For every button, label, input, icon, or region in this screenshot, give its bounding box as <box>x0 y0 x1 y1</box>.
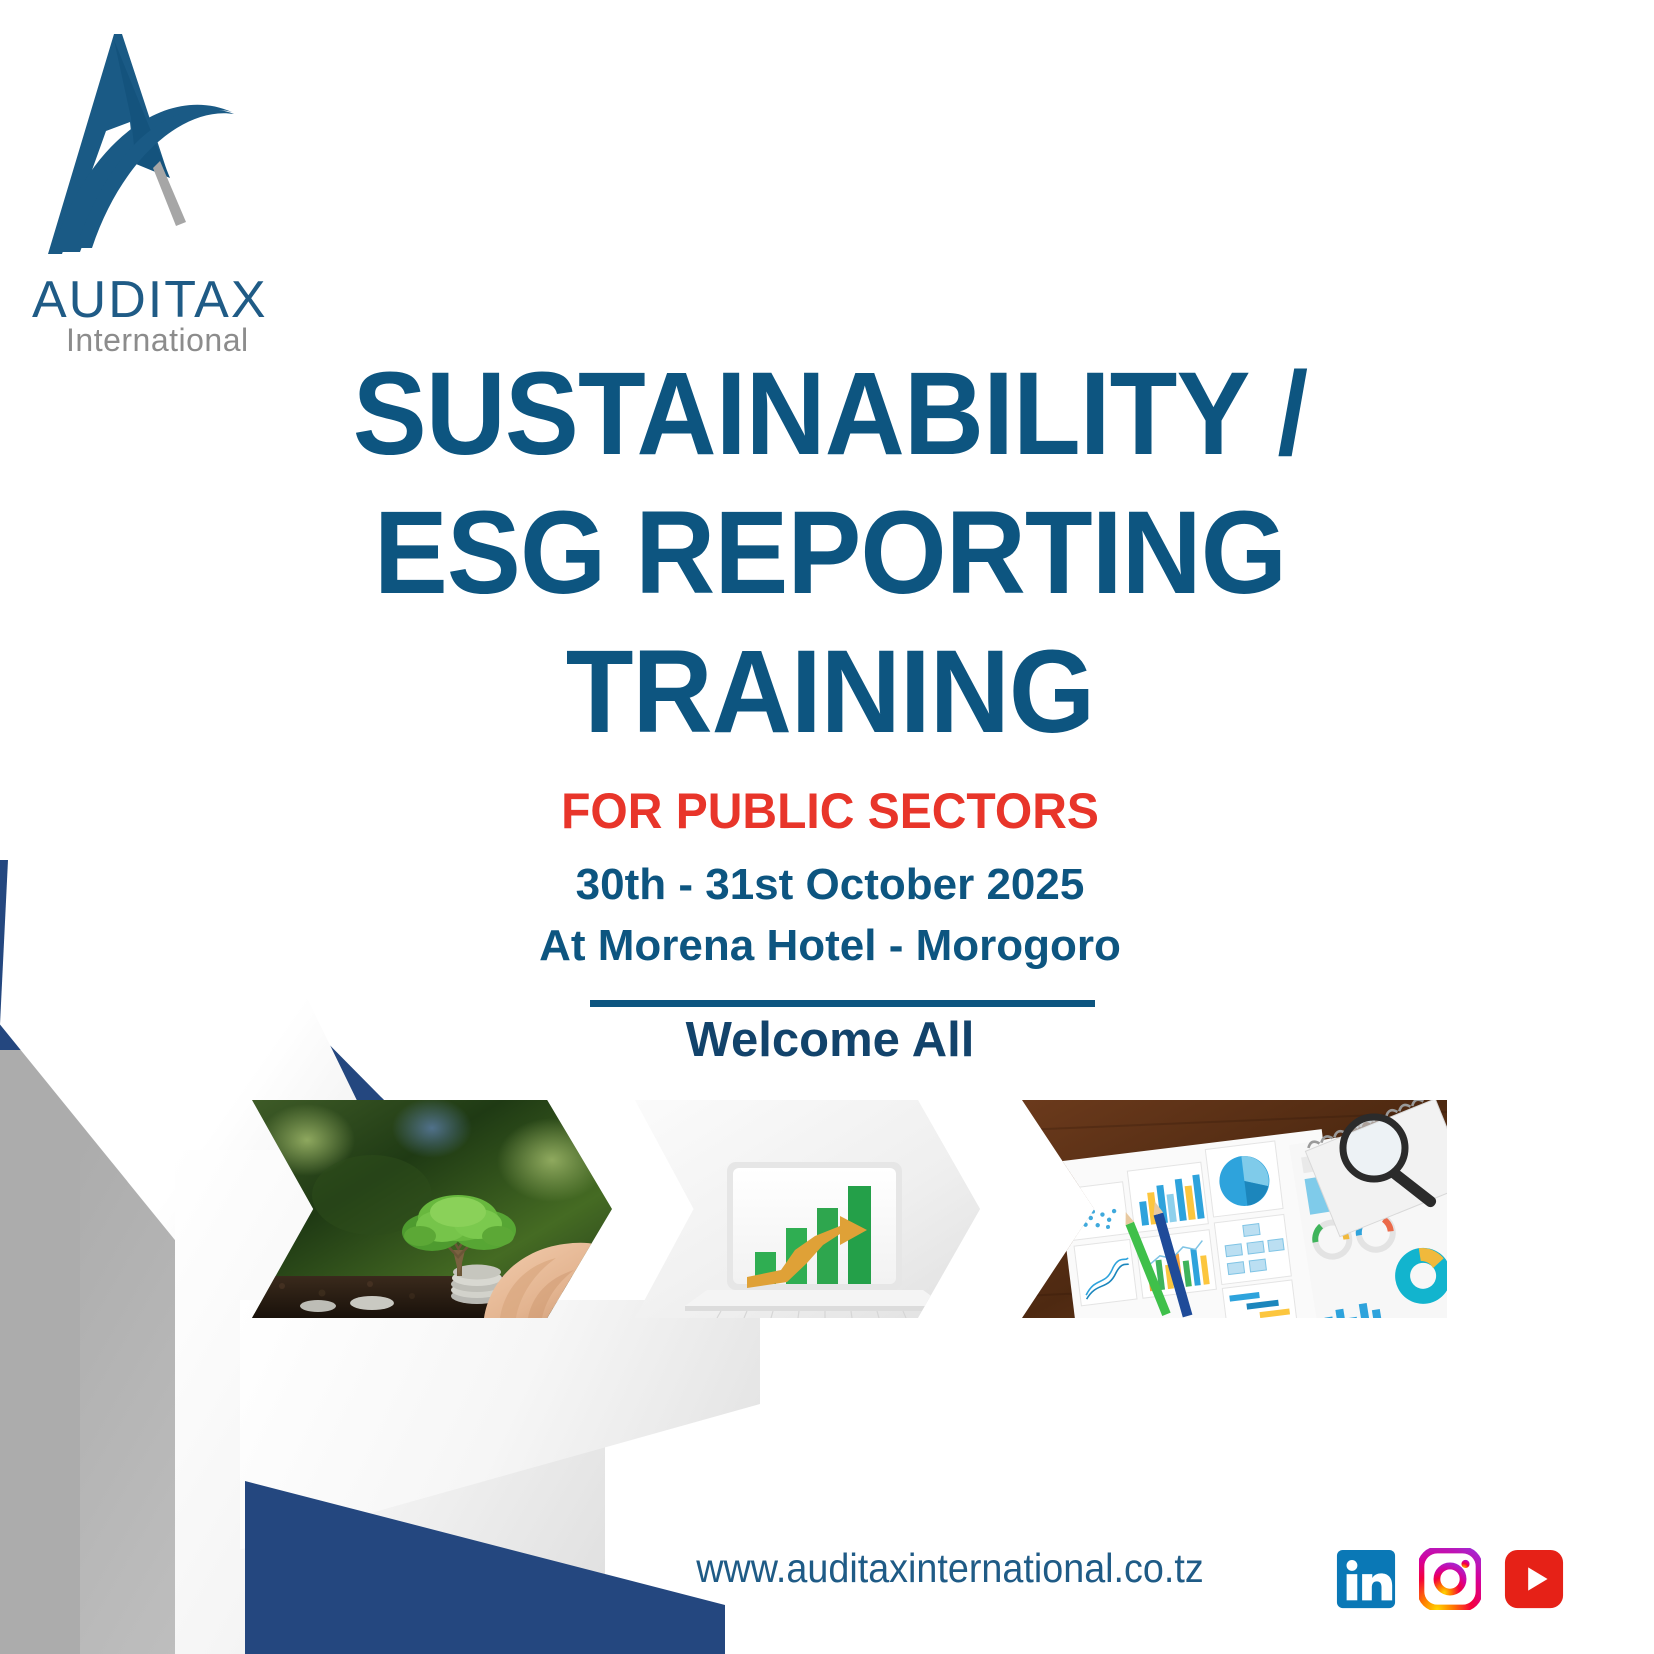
title-line-1: SUSTAINABILITY / <box>181 345 1478 484</box>
title-line-3: TRAINING <box>181 623 1478 762</box>
auditax-logo: AUDITAX International <box>18 26 298 341</box>
social-links <box>1335 1548 1565 1610</box>
instagram-icon[interactable] <box>1419 1548 1481 1610</box>
page-title: SUSTAINABILITY / ESG REPORTING TRAINING <box>181 345 1478 763</box>
tree-in-hand-illustration <box>252 1100 612 1318</box>
event-dates: 30th - 31st October 2025 <box>140 855 1520 916</box>
divider-rule <box>590 1000 1095 1007</box>
event-venue: At Morena Hotel - Morogoro <box>140 916 1520 977</box>
sustainability-tree-photo <box>252 1100 612 1318</box>
youtube-icon[interactable] <box>1503 1548 1565 1610</box>
business-analytics-report-photo <box>1022 1100 1447 1318</box>
white-bottom-wedge <box>240 1300 760 1560</box>
analytics-dashboard-illustration <box>1022 1100 1447 1318</box>
website-url[interactable]: www.auditaxinternational.co.tz <box>628 1545 1272 1592</box>
image-strip <box>252 1100 1452 1318</box>
poster-canvas: AUDITAX International SUSTAINABILITY / E… <box>0 0 1654 1654</box>
welcome-message: Welcome All <box>140 1012 1520 1068</box>
logo-wordmark: AUDITAX <box>32 274 268 326</box>
title-line-2: ESG REPORTING <box>181 484 1478 623</box>
gray-chevron-shape <box>80 990 380 1654</box>
linkedin-icon[interactable] <box>1335 1548 1397 1610</box>
gray-block-shape <box>0 1050 290 1654</box>
event-details: 30th - 31st October 2025 At Morena Hotel… <box>140 855 1520 976</box>
laptop-bar-chart-illustration <box>635 1100 980 1318</box>
growth-chart-laptop-photo <box>635 1100 980 1318</box>
target-audience-subtitle: FOR PUBLIC SECTORS <box>168 782 1493 840</box>
auditax-logo-mark-icon <box>18 26 298 256</box>
